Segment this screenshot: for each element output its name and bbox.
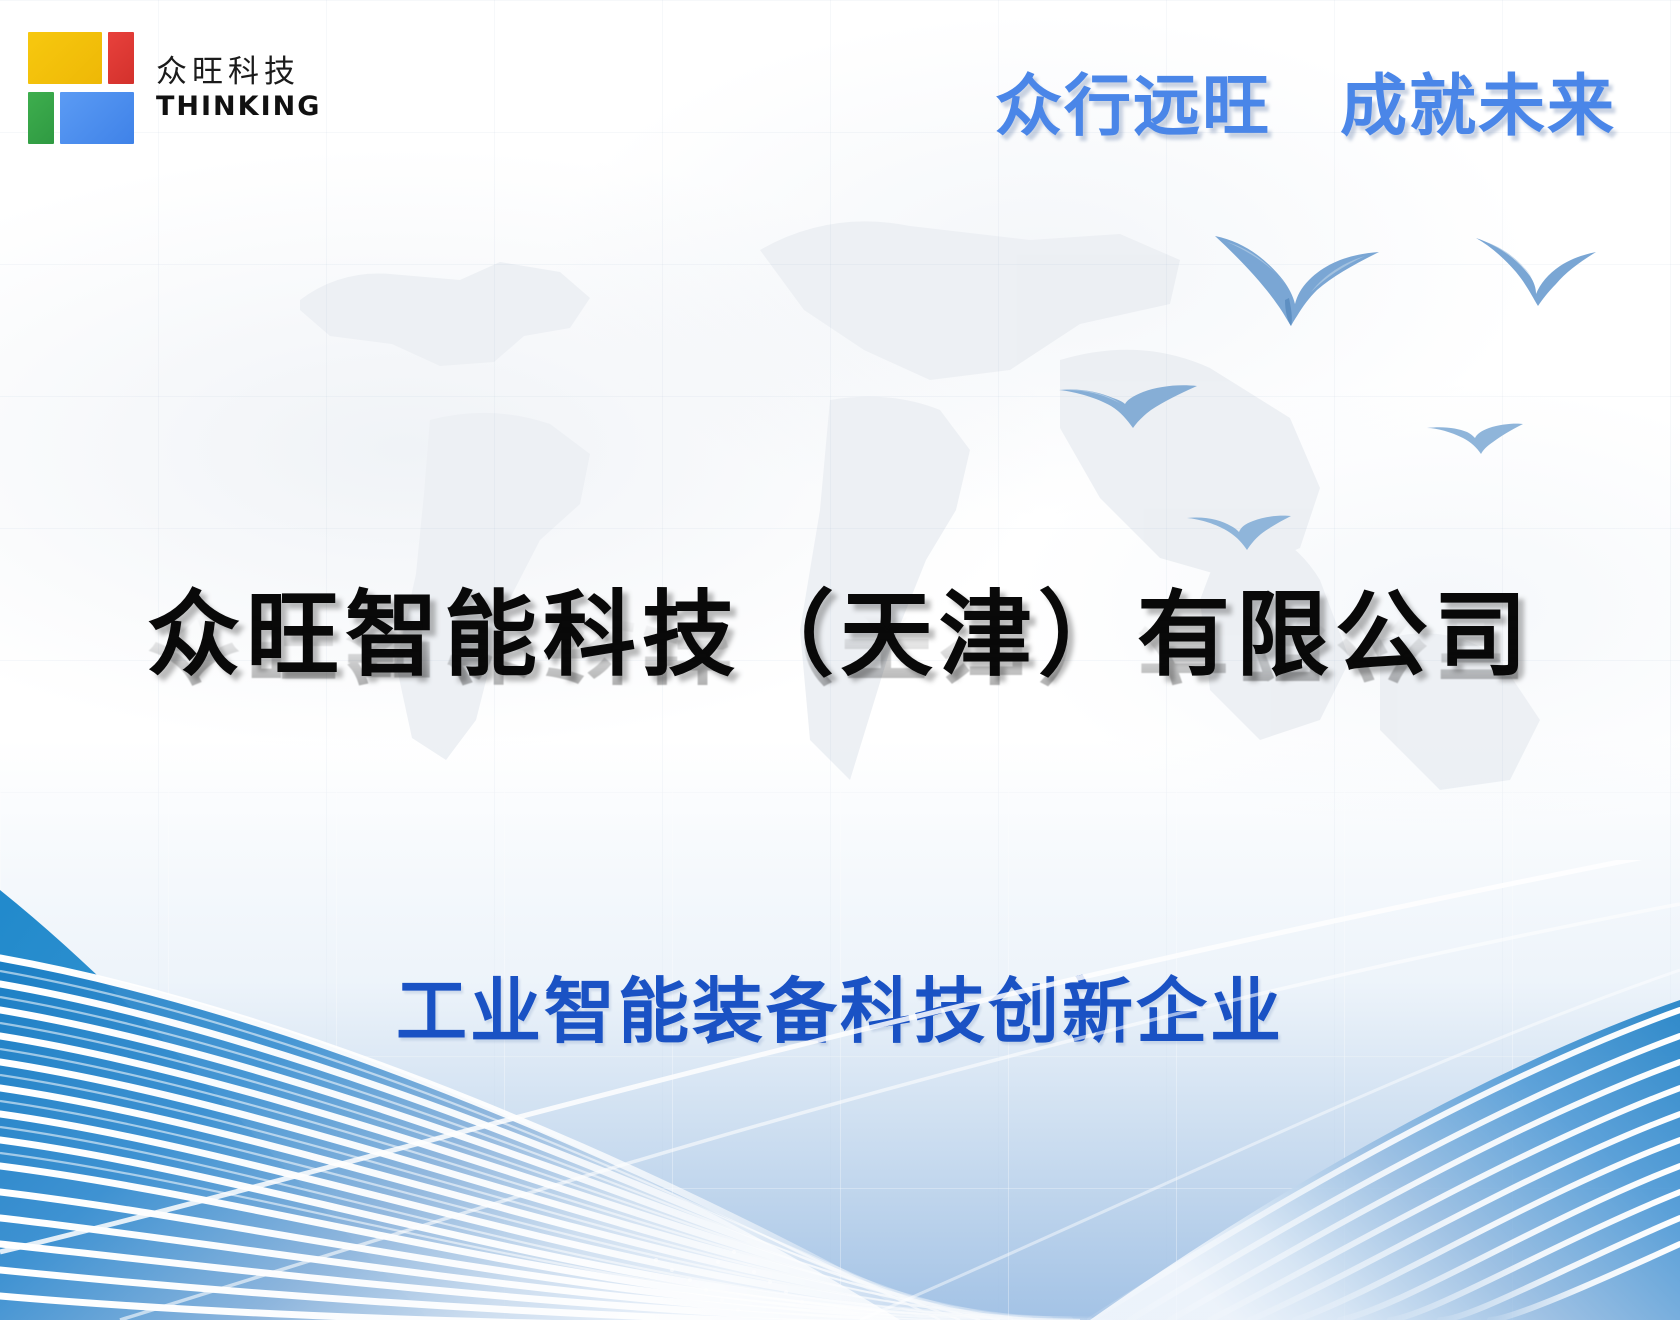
header-tagline: 众行远旺 成就未来 (995, 52, 1616, 149)
logo-chinese-name: 众旺科技 (156, 55, 321, 89)
four-square-logo-icon (28, 32, 134, 144)
page-subtitle: 工业智能装备科技创新企业 (0, 955, 1680, 1057)
logo-square-yellow (28, 32, 102, 84)
logo-square-green (28, 92, 54, 144)
bird-icon-5 (1185, 500, 1295, 558)
bottom-decoration (0, 860, 1680, 1320)
logo-square-red (108, 32, 134, 84)
logo-wordmark: 众旺科技 THINKING (152, 55, 321, 121)
bird-icon-3 (1055, 368, 1200, 438)
title-block: 众旺智能科技（天津）有限公司 众旺智能科技（天津）有限公司 (0, 585, 1680, 788)
presentation-slide: 众旺科技 THINKING 众行远旺 成就未来 (0, 0, 1680, 1320)
bird-icon-2 (1470, 228, 1600, 308)
logo-square-blue (60, 92, 134, 144)
page-title-reflection: 众旺智能科技（天津）有限公司 (0, 587, 1680, 687)
logo-english-name: THINKING (156, 93, 321, 121)
bird-icon-1 (1205, 222, 1385, 332)
bird-icon-4 (1425, 412, 1525, 462)
company-logo[interactable]: 众旺科技 THINKING (28, 32, 321, 144)
